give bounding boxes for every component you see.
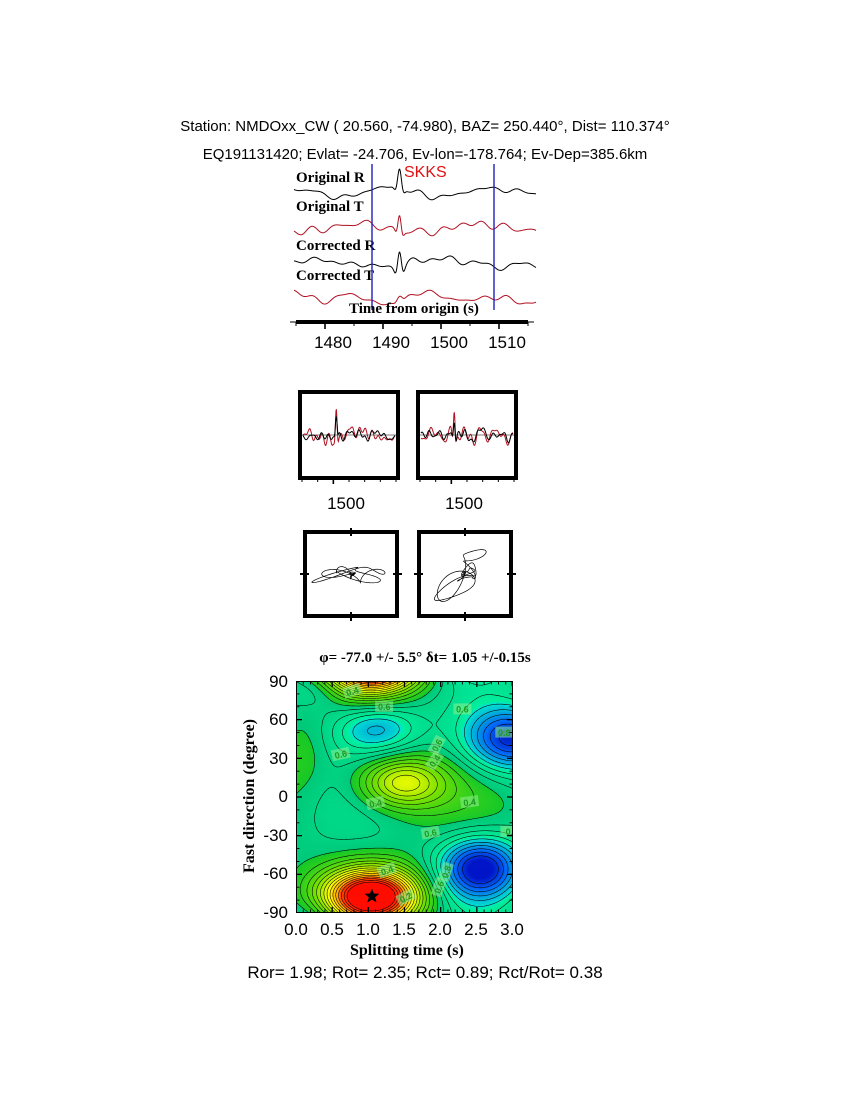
header-station-line: Station: NMDOxx_CW ( 20.560, -74.980), B… [0,118,850,135]
splitting-parameters-title: φ= -77.0 +/- 5.5° δt= 1.05 +/-0.15s [0,650,850,667]
time-tick-1490: 1490 [361,333,421,353]
contour-ytick-90: 90 [244,672,288,692]
contour-xtick-1: 0.5 [312,920,352,940]
particle-motion-uncorrected [300,528,404,624]
contour-x-axis-label: Splitting time (s) [350,942,464,960]
time-tick-1480: 1480 [303,333,363,353]
time-tick-1510: 1510 [477,333,537,353]
contour-xtick-6: 3.0 [492,920,532,940]
time-axis [288,315,536,331]
compare-tick-right: 1500 [434,494,494,514]
contour-xtick-2: 1.0 [348,920,388,940]
particle-motion-corrected [414,528,518,624]
contour-xtick-4: 2.0 [420,920,460,940]
compare-panel-corrected [414,388,520,484]
contour-plot: 0.40.60.60.80.60.60.40.40.40.60.0.40.80.… [296,681,513,913]
compare-tick-left: 1500 [316,494,376,514]
trace-2 [294,216,536,236]
trace-3 [294,252,536,273]
compare-panel-uncorrected [296,388,402,484]
time-tick-1500: 1500 [419,333,479,353]
contour-ytick-m30: -30 [238,826,288,846]
contour-ytick-0: 0 [244,787,288,807]
contour-xtick-3: 1.5 [384,920,424,940]
contour-ytick-m60: -60 [238,864,288,884]
quality-metrics-footer: Ror= 1.98; Rot= 2.35; Rct= 0.89; Rct/Rot… [0,963,850,983]
splitting-analysis-figure: Station: NMDOxx_CW ( 20.560, -74.980), B… [0,0,850,1100]
contour-ytick-60: 60 [244,710,288,730]
contour-xtick-5: 2.5 [456,920,496,940]
trace-1 [294,169,536,200]
contour-ytick-30: 30 [244,749,288,769]
contour-xtick-0: 0.0 [276,920,316,940]
